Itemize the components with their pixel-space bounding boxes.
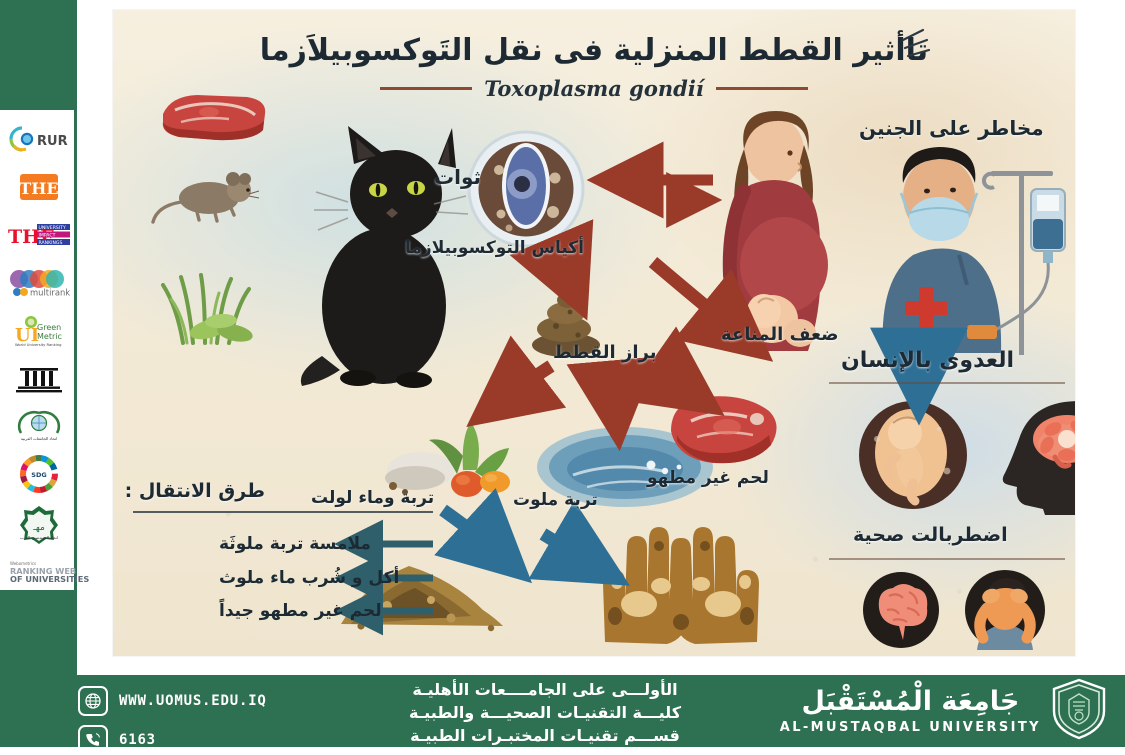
svg-text:World University Ranking: World University Ranking bbox=[15, 343, 61, 347]
transmission-item-1-label: ملامسة تربة ملوثَة bbox=[219, 534, 371, 554]
the-ranking-logo: THE bbox=[8, 168, 70, 207]
footer-phone-row[interactable]: 6163 bbox=[78, 725, 267, 755]
label-raw-meat: لحم غير مطهو bbox=[647, 468, 769, 488]
footer-website: WWW.UOMUS.EDU.IQ bbox=[119, 693, 267, 709]
svg-text:Green: Green bbox=[37, 323, 61, 332]
footer-contact-block: WWW.UOMUS.EDU.IQ 6163 bbox=[78, 686, 267, 755]
university-name-block: جَامِعَة الْمُسْتَقْبَل AL-MUSTAQBAL UNI… bbox=[780, 688, 1041, 735]
divider-right bbox=[716, 87, 808, 90]
svg-text:IMPACT: IMPACT bbox=[38, 233, 55, 239]
svg-text:RUR: RUR bbox=[37, 134, 68, 149]
sidebar-bottom-block bbox=[0, 590, 77, 675]
association-arab-universities-logo: اتحاد الجامعات العربية bbox=[8, 407, 70, 446]
footer-line-2: كليـــة التقنيـات الصحيـــة والطبيـة bbox=[330, 701, 760, 724]
arrow-feces-to-soil bbox=[491, 366, 551, 408]
toxoplasma-oocyst-image bbox=[465, 128, 587, 250]
label-cat-feces: براز القطط bbox=[553, 342, 656, 363]
human-infection-underline bbox=[829, 382, 1065, 384]
transmission-item-3-label: لحم غير مطهو جيداً bbox=[219, 601, 382, 621]
university-shield-logo bbox=[1051, 678, 1107, 744]
label-soil-and-water: تربة وماء لولت bbox=[311, 488, 434, 508]
transmission-item-2: أكل و شُرب ماء ملوث bbox=[133, 568, 433, 588]
svg-text:UNIVERSITY: UNIVERSITY bbox=[38, 225, 65, 231]
university-brand: جَامِعَة الْمُسْتَقْبَل AL-MUSTAQBAL UNI… bbox=[780, 678, 1107, 744]
footer-line-1: الأولـــى على الجامــــعات الأهليـة bbox=[330, 678, 760, 701]
transmission-item-3-arrow bbox=[133, 605, 211, 617]
u-multirank-logo: multirank bbox=[8, 263, 70, 302]
transmission-item-2-arrow bbox=[133, 572, 211, 584]
transmission-heading: طرق الانتقال : bbox=[125, 480, 265, 502]
transmission-item-2-label: أكل و شُرب ماء ملوث bbox=[219, 568, 399, 588]
fetus-circle-image bbox=[853, 395, 973, 515]
svg-text:اتحاد المهندسين العرب: اتحاد المهندسين العرب bbox=[20, 535, 58, 540]
label-human-infection: العدوى بالإنسان bbox=[841, 348, 1014, 373]
sidebar-top-block bbox=[0, 0, 77, 110]
sdg-wheel-logo: SDG bbox=[8, 454, 70, 494]
mouse-image bbox=[145, 168, 263, 230]
title-accent-lines bbox=[901, 26, 947, 66]
footer-phone: 6163 bbox=[119, 732, 156, 748]
label-hosts: ثوات bbox=[434, 165, 481, 189]
ui-greenmetric-logo: UI Green Metric World University Ranking bbox=[8, 311, 70, 350]
headache-person-icon bbox=[961, 566, 1049, 654]
globe-icon bbox=[78, 686, 108, 716]
transmission-divider bbox=[133, 511, 433, 513]
svg-text:اتحاد الجامعات العربية: اتحاد الجامعات العربية bbox=[20, 436, 56, 441]
university-name-ar: جَامِعَة الْمُسْتَقْبَل bbox=[801, 688, 1019, 715]
footer-line-3: قســـم تقنيـات المختبـرات الطبيـة bbox=[330, 724, 760, 747]
svg-text:RANKINGS: RANKINGS bbox=[38, 240, 62, 246]
dirty-hands-image bbox=[581, 512, 781, 647]
grass-plants-image bbox=[153, 245, 303, 345]
svg-text:SDG: SDG bbox=[31, 471, 46, 479]
human-head-brain-image bbox=[983, 395, 1075, 515]
page-root: RUR THE THE UNIVERSITY IMPACT RANKINGS bbox=[0, 0, 1125, 747]
svg-text:OF UNIVERSITIES: OF UNIVERSITIES bbox=[10, 574, 89, 584]
label-health-disorders: اضطربالت صحية bbox=[853, 524, 1008, 546]
rur-ranking-logo: RUR bbox=[8, 120, 70, 159]
pillars-ranking-logo bbox=[8, 359, 70, 398]
the-impact-ranking-logo: THE UNIVERSITY IMPACT RANKINGS bbox=[8, 216, 70, 255]
footer-department-block: الأولـــى على الجامــــعات الأهليـة كليـ… bbox=[330, 678, 760, 748]
webometrics-logo: Webometrics RANKING WEB OF UNIVERSITIES bbox=[8, 551, 70, 590]
svg-text:Metric: Metric bbox=[37, 332, 62, 341]
label-oocyst: أكياس التوكسوبيلازما bbox=[405, 238, 584, 258]
pregnant-woman-image bbox=[688, 105, 848, 355]
ranking-logo-list: RUR THE THE UNIVERSITY IMPACT RANKINGS bbox=[0, 112, 77, 590]
arab-engineers-union-logo: مهـ اتحاد المهندسين العرب bbox=[8, 503, 70, 542]
university-name-en: AL-MUSTAQBAL UNIVERSITY bbox=[780, 720, 1041, 735]
species-name: Toxoplasma gondií bbox=[484, 76, 704, 101]
phone-icon bbox=[78, 725, 108, 755]
label-fetus-risk: مخاطر على الجنين bbox=[859, 116, 1044, 140]
label-contaminated-soil: تربة ملوت bbox=[513, 490, 598, 510]
health-disorders-underline bbox=[829, 558, 1065, 560]
nurse-iv-image bbox=[863, 135, 1075, 355]
transmission-item-1-arrow bbox=[133, 538, 211, 550]
vegetables-soil-image bbox=[385, 408, 535, 498]
svg-text:multirank: multirank bbox=[30, 287, 70, 297]
transmission-item-3: لحم غير مطهو جيداً bbox=[133, 601, 433, 621]
infographic-canvas: تاأثير القطط المنزلية فى نقل التَوكسوبيل… bbox=[113, 10, 1075, 656]
svg-text:THE: THE bbox=[19, 179, 58, 198]
footer-website-row[interactable]: WWW.UOMUS.EDU.IQ bbox=[78, 686, 267, 716]
transmission-item-1: ملامسة تربة ملوثَة bbox=[133, 534, 433, 554]
brain-icon bbox=[859, 568, 943, 652]
svg-text:مهـ: مهـ bbox=[32, 523, 45, 533]
raw-steak-image bbox=[155, 88, 273, 148]
divider-left bbox=[380, 87, 472, 90]
undercooked-meat-image bbox=[661, 385, 786, 475]
label-weak-immunity: ضعف المناعة bbox=[721, 324, 839, 345]
